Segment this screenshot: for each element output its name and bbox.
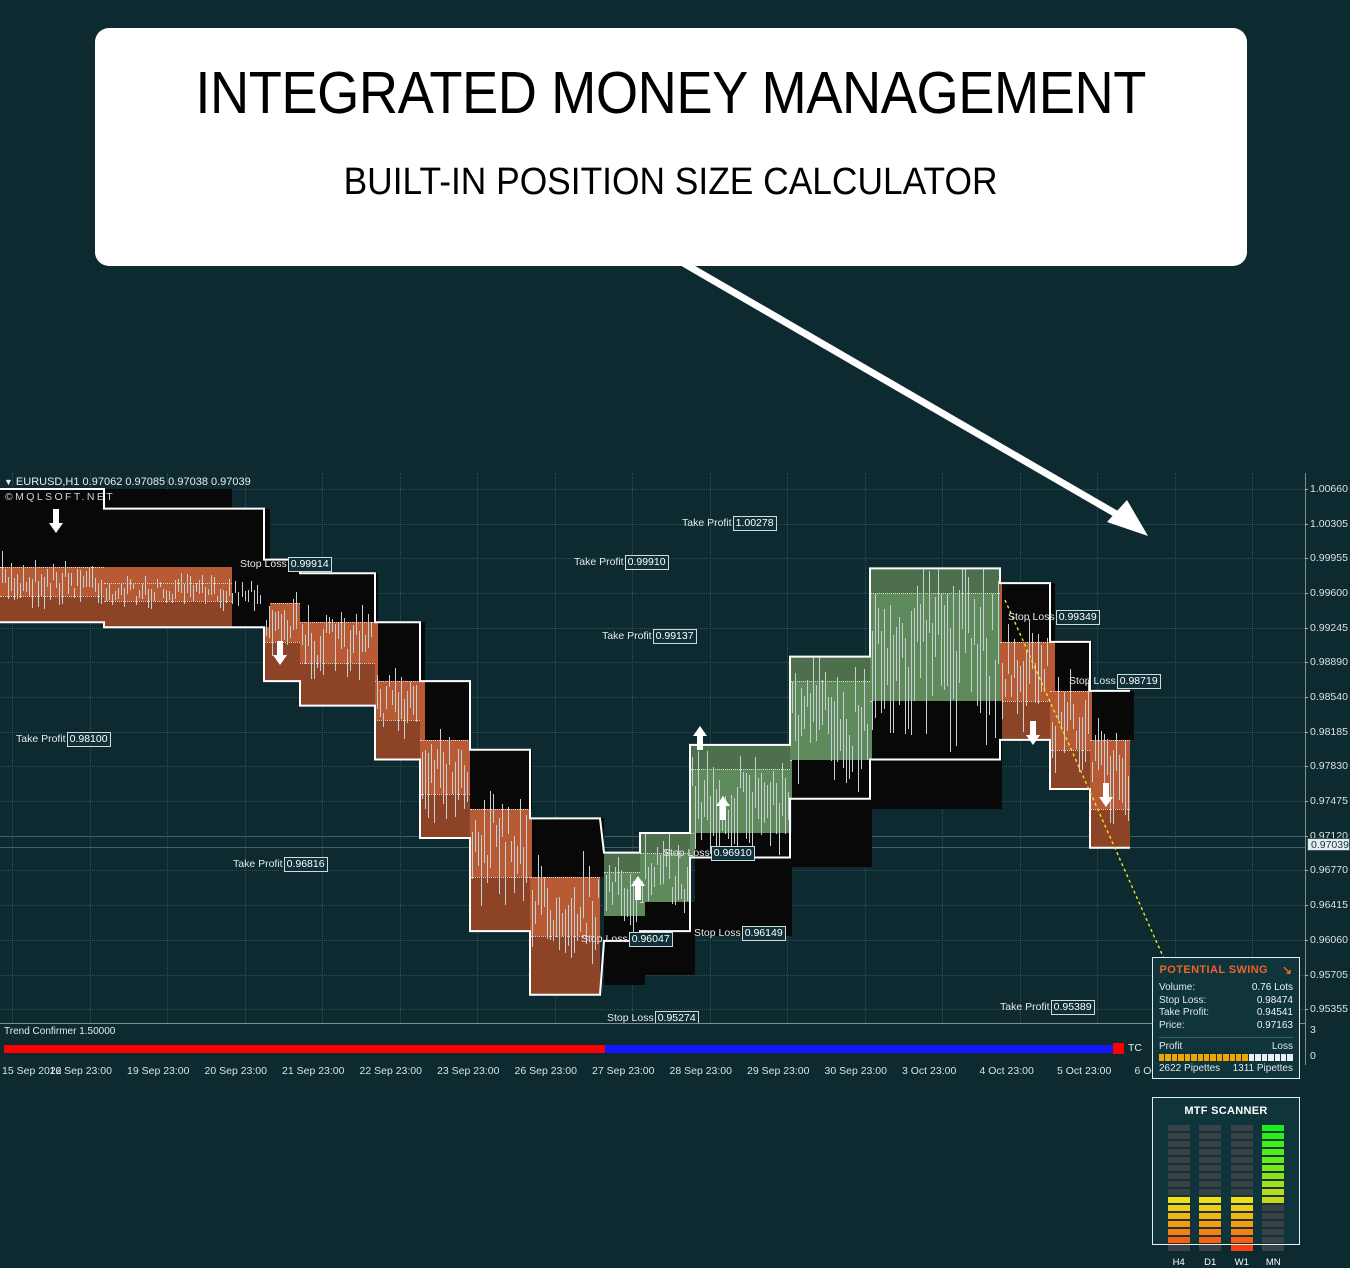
profit-bar-segment <box>1230 1054 1235 1061</box>
label-kind: Take Profit <box>16 733 66 745</box>
mtf-cell <box>1231 1197 1253 1203</box>
current-price-marker: 0.97039 <box>1307 838 1350 851</box>
time-tick: 26 Sep 23:00 <box>515 1065 577 1077</box>
mtf-cell <box>1168 1245 1190 1251</box>
position-panel-row: Volume:0.76 Lots <box>1159 982 1293 995</box>
mtf-cell <box>1199 1125 1221 1131</box>
subwindow-axis: 3 0 <box>1305 1023 1350 1065</box>
price-tick: 0.96770 <box>1310 864 1348 876</box>
loss-value: 1311 Pipettes <box>1233 1063 1293 1074</box>
mtf-scanner-panel[interactable]: MTF SCANNER H4D1W1MN <box>1152 1097 1300 1245</box>
label-value: 0.95389 <box>1051 1000 1095 1015</box>
mtf-cell <box>1199 1133 1221 1139</box>
position-row-value: 0.97163 <box>1257 1020 1293 1033</box>
label-value: 0.95274 <box>655 1011 699 1023</box>
price-tick: 0.98185 <box>1310 726 1348 738</box>
mtf-cell <box>1199 1149 1221 1155</box>
position-row-value: 0.94541 <box>1257 1007 1293 1020</box>
profit-bar-segment <box>1165 1054 1170 1061</box>
time-tick: 27 Sep 23:00 <box>592 1065 654 1077</box>
take-profit-label: Take Profit0.96816 <box>233 857 328 872</box>
mtf-column-h4 <box>1168 1125 1190 1253</box>
price-tick: 1.00305 <box>1310 518 1348 530</box>
stop-loss-label: Stop Loss0.99914 <box>240 557 332 572</box>
mtf-cell <box>1231 1165 1253 1171</box>
sell-signal-arrow-icon <box>48 508 64 534</box>
mtf-cell <box>1262 1173 1284 1179</box>
mtf-cell <box>1262 1213 1284 1219</box>
position-row-value: 0.76 Lots <box>1252 982 1293 995</box>
price-tick: 0.96060 <box>1310 934 1348 946</box>
mtf-cell <box>1231 1189 1253 1195</box>
indicator-title: Trend Confirmer 1.50000 <box>4 1026 115 1037</box>
mtf-cell <box>1168 1173 1190 1179</box>
loss-bar-segment <box>1287 1054 1292 1061</box>
loss-label: Loss <box>1272 1041 1293 1052</box>
time-tick: 23 Sep 23:00 <box>437 1065 499 1077</box>
label-kind: Stop Loss <box>694 927 741 939</box>
trend-confirmer-blue-bar <box>605 1045 1113 1053</box>
direction-down-icon: ↘ <box>1282 963 1292 977</box>
mtf-cell <box>1231 1125 1253 1131</box>
label-value: 0.96047 <box>629 932 673 947</box>
mtf-cell <box>1262 1221 1284 1227</box>
mtf-cell <box>1199 1197 1221 1203</box>
mtf-cell <box>1262 1229 1284 1235</box>
mtf-labels: H4D1W1MN <box>1153 1253 1299 1268</box>
price-tick: 0.97475 <box>1310 795 1348 807</box>
time-tick: 19 Sep 23:00 <box>127 1065 189 1077</box>
mtf-cell <box>1168 1125 1190 1131</box>
mtf-cell <box>1168 1229 1190 1235</box>
loss-bar-segment <box>1262 1054 1267 1061</box>
mtf-cell <box>1168 1165 1190 1171</box>
subwindow-scale-bottom: 0 <box>1310 1050 1316 1062</box>
loss-bar-segment <box>1268 1054 1273 1061</box>
profit-bar-segment <box>1159 1054 1164 1061</box>
time-tick: 21 Sep 23:00 <box>282 1065 344 1077</box>
profit-label: Profit <box>1159 1041 1182 1052</box>
profit-loss-values: 2622 Pipettes 1311 Pipettes <box>1159 1063 1293 1074</box>
mtf-column-mn <box>1262 1125 1284 1253</box>
loss-bar-segment <box>1275 1054 1280 1061</box>
trend-confirmer-marker <box>1113 1043 1124 1054</box>
mtf-cell <box>1168 1237 1190 1243</box>
label-kind: Stop Loss <box>240 558 287 570</box>
label-value: 0.96816 <box>284 857 328 872</box>
price-tick: 0.98540 <box>1310 691 1348 703</box>
label-kind: Stop Loss <box>607 1012 654 1023</box>
mtf-cell <box>1199 1165 1221 1171</box>
mtf-cell <box>1231 1173 1253 1179</box>
price-tick: 0.95355 <box>1310 1003 1348 1015</box>
mtf-cell <box>1231 1141 1253 1147</box>
price-tick: 0.99245 <box>1310 622 1348 634</box>
time-tick: 22 Sep 23:00 <box>360 1065 422 1077</box>
profit-bar-segment <box>1242 1054 1247 1061</box>
mtf-cell <box>1168 1181 1190 1187</box>
panel-divider <box>1159 1037 1293 1038</box>
loss-bar-segment <box>1249 1054 1254 1061</box>
price-tick: 0.98890 <box>1310 656 1348 668</box>
mtf-cell <box>1231 1205 1253 1211</box>
loss-bar-segment <box>1281 1054 1286 1061</box>
profit-bar-segment <box>1178 1054 1183 1061</box>
label-kind: Take Profit <box>233 858 283 870</box>
mtf-cell <box>1231 1157 1253 1163</box>
chart-watermark: ©MQLSOFT.NET <box>5 491 115 503</box>
mtf-cell <box>1262 1245 1284 1251</box>
mtf-cell <box>1231 1229 1253 1235</box>
mtf-cell <box>1231 1237 1253 1243</box>
mtf-cell <box>1262 1125 1284 1131</box>
chart-header-text: EURUSD,H1 0.97062 0.97085 0.97038 0.9703… <box>16 476 251 488</box>
mtf-timeframe-label: W1 <box>1231 1257 1253 1268</box>
price-tick: 0.99955 <box>1310 552 1348 564</box>
profit-bar-segment <box>1204 1054 1209 1061</box>
mtf-cell <box>1231 1133 1253 1139</box>
sell-signal-arrow-icon <box>1098 782 1114 808</box>
trend-confirmer-red-bar <box>4 1045 605 1053</box>
take-profit-label: Take Profit0.99910 <box>574 555 669 570</box>
profit-bar-segment <box>1217 1054 1222 1061</box>
price-tick: 0.99600 <box>1310 587 1348 599</box>
profit-bar-segment <box>1210 1054 1215 1061</box>
mtf-cell <box>1231 1181 1253 1187</box>
mtf-cell <box>1199 1181 1221 1187</box>
mtf-cell <box>1262 1197 1284 1203</box>
subwindow-scale-top: 3 <box>1310 1024 1316 1036</box>
sell-signal-arrow-icon <box>1025 720 1041 746</box>
mtf-scanner-title: MTF SCANNER <box>1153 1105 1299 1117</box>
buy-signal-arrow-icon <box>630 875 646 901</box>
time-tick: 20 Sep 23:00 <box>205 1065 267 1077</box>
stop-loss-label: Stop Loss0.96047 <box>581 932 673 947</box>
mtf-cell <box>1199 1229 1221 1235</box>
mtf-cell <box>1168 1157 1190 1163</box>
time-tick: 16 Sep 23:00 <box>50 1065 112 1077</box>
chart-header: ▼EURUSD,H1 0.97062 0.97085 0.97038 0.970… <box>4 476 251 488</box>
label-value: 0.99137 <box>653 629 697 644</box>
mtf-cell <box>1231 1221 1253 1227</box>
position-size-panel[interactable]: POTENTIAL SWING ↘ Volume:0.76 LotsStop L… <box>1152 957 1300 1079</box>
time-tick: 3 Oct 23:00 <box>902 1065 956 1077</box>
profit-bar-segment <box>1191 1054 1196 1061</box>
label-kind: Take Profit <box>1000 1001 1050 1013</box>
profit-bar-segment <box>1223 1054 1228 1061</box>
label-value: 0.99349 <box>1056 610 1100 625</box>
price-axis[interactable]: 1.006601.003050.999550.996000.992450.988… <box>1305 473 1350 1023</box>
position-row-label: Volume: <box>1159 982 1195 995</box>
position-panel-rows: Volume:0.76 LotsStop Loss:0.98474Take Pr… <box>1159 982 1293 1032</box>
position-row-label: Price: <box>1159 1020 1185 1033</box>
label-kind: Take Profit <box>602 630 652 642</box>
profit-value: 2622 Pipettes <box>1159 1063 1220 1074</box>
mtf-cell <box>1262 1141 1284 1147</box>
mtf-cell <box>1199 1221 1221 1227</box>
position-panel-title: POTENTIAL SWING ↘ <box>1159 963 1293 977</box>
profit-bar-segment <box>1236 1054 1241 1061</box>
sell-signal-arrow-icon <box>272 640 288 666</box>
label-value: 0.96910 <box>711 846 755 861</box>
mtf-cell <box>1262 1205 1284 1211</box>
mtf-columns <box>1153 1125 1299 1253</box>
price-tick: 0.95705 <box>1310 969 1348 981</box>
mtf-cell <box>1262 1165 1284 1171</box>
time-axis[interactable]: 15 Sep 202216 Sep 23:0019 Sep 23:0020 Se… <box>0 1065 1350 1080</box>
mtf-cell <box>1262 1181 1284 1187</box>
callout-title: INTEGRATED MONEY MANAGEMENT <box>196 64 1147 123</box>
mtf-cell <box>1231 1245 1253 1251</box>
buy-signal-arrow-icon <box>715 795 731 821</box>
time-tick: 5 Oct 23:00 <box>1057 1065 1111 1077</box>
mtf-cell <box>1199 1189 1221 1195</box>
label-value: 0.99914 <box>288 557 332 572</box>
label-value: 0.98100 <box>67 732 111 747</box>
position-panel-row: Stop Loss:0.98474 <box>1159 995 1293 1008</box>
mtf-column-d1 <box>1199 1125 1221 1253</box>
mtf-cell <box>1168 1221 1190 1227</box>
position-row-label: Take Profit: <box>1159 1007 1209 1020</box>
mtf-column-w1 <box>1231 1125 1253 1253</box>
profit-loss-bar <box>1159 1054 1293 1061</box>
mtf-cell <box>1199 1213 1221 1219</box>
label-kind: Stop Loss <box>1008 611 1055 623</box>
price-tick: 1.00660 <box>1310 483 1348 495</box>
price-tick: 0.96415 <box>1310 899 1348 911</box>
take-profit-label: Take Profit0.99137 <box>602 629 697 644</box>
mtf-cell <box>1262 1133 1284 1139</box>
label-value: 0.99910 <box>625 555 669 570</box>
time-tick: 29 Sep 23:00 <box>747 1065 809 1077</box>
mtf-cell <box>1199 1173 1221 1179</box>
mtf-cell <box>1262 1149 1284 1155</box>
mtf-timeframe-label: D1 <box>1199 1257 1221 1268</box>
price-tick: 0.97830 <box>1310 760 1348 772</box>
mtf-cell <box>1199 1205 1221 1211</box>
label-kind: Stop Loss <box>581 933 628 945</box>
profit-bar-segment <box>1185 1054 1190 1061</box>
callout-subtitle: BUILT-IN POSITION SIZE CALCULATOR <box>344 163 998 201</box>
callout-arrow <box>600 250 1220 550</box>
position-panel-row: Price:0.97163 <box>1159 1020 1293 1033</box>
mtf-cell <box>1168 1133 1190 1139</box>
mtf-cell <box>1168 1197 1190 1203</box>
mtf-timeframe-label: MN <box>1262 1257 1284 1268</box>
take-profit-label: Take Profit0.95389 <box>1000 1000 1095 1015</box>
time-tick: 28 Sep 23:00 <box>670 1065 732 1077</box>
indicator-subwindow[interactable]: Trend Confirmer 1.50000 TC <box>0 1023 1305 1067</box>
mtf-cell <box>1168 1205 1190 1211</box>
mtf-cell <box>1199 1141 1221 1147</box>
mtf-cell <box>1262 1237 1284 1243</box>
stop-loss-label: Stop Loss0.99349 <box>1008 610 1100 625</box>
chart-dropdown-icon[interactable]: ▼ <box>4 477 13 487</box>
time-tick: 30 Sep 23:00 <box>825 1065 887 1077</box>
profit-loss-header: Profit Loss <box>1159 1041 1293 1052</box>
mtf-cell <box>1168 1213 1190 1219</box>
profit-bar-segment <box>1172 1054 1177 1061</box>
loss-bar-segment <box>1255 1054 1260 1061</box>
mtf-cell <box>1168 1189 1190 1195</box>
label-kind: Stop Loss <box>663 847 710 859</box>
stop-loss-label: Stop Loss0.98719 <box>1069 674 1161 689</box>
profit-bar-segment <box>1198 1054 1203 1061</box>
mtf-cell <box>1231 1213 1253 1219</box>
time-tick: 4 Oct 23:00 <box>980 1065 1034 1077</box>
label-value: 0.98719 <box>1117 674 1161 689</box>
mtf-cell <box>1262 1157 1284 1163</box>
label-kind: Stop Loss <box>1069 675 1116 687</box>
mtf-cell <box>1168 1149 1190 1155</box>
mtf-cell <box>1231 1149 1253 1155</box>
position-panel-row: Take Profit:0.94541 <box>1159 1007 1293 1020</box>
stop-loss-label: Stop Loss0.95274 <box>607 1011 699 1023</box>
mtf-timeframe-label: H4 <box>1168 1257 1190 1268</box>
mtf-cell <box>1199 1245 1221 1251</box>
trading-chart[interactable]: ▼EURUSD,H1 0.97062 0.97085 0.97038 0.970… <box>0 473 1350 1080</box>
buy-signal-arrow-icon <box>692 725 708 751</box>
mtf-cell <box>1199 1237 1221 1243</box>
position-panel-title-text: POTENTIAL SWING <box>1160 964 1268 976</box>
mtf-cell <box>1262 1189 1284 1195</box>
label-kind: Take Profit <box>574 556 624 568</box>
stop-loss-label: Stop Loss0.96149 <box>694 926 786 941</box>
stop-loss-label: Stop Loss0.96910 <box>663 846 755 861</box>
mtf-cell <box>1199 1157 1221 1163</box>
take-profit-label: Take Profit0.98100 <box>16 732 111 747</box>
position-row-label: Stop Loss: <box>1159 995 1206 1008</box>
trend-confirmer-marker-label: TC <box>1128 1042 1142 1054</box>
callout-card: INTEGRATED MONEY MANAGEMENT BUILT-IN POS… <box>95 28 1247 266</box>
chart-plot-area[interactable]: ▼EURUSD,H1 0.97062 0.97085 0.97038 0.970… <box>0 473 1305 1023</box>
label-value: 0.96149 <box>742 926 786 941</box>
mtf-cell <box>1168 1141 1190 1147</box>
position-row-value: 0.98474 <box>1257 995 1293 1008</box>
